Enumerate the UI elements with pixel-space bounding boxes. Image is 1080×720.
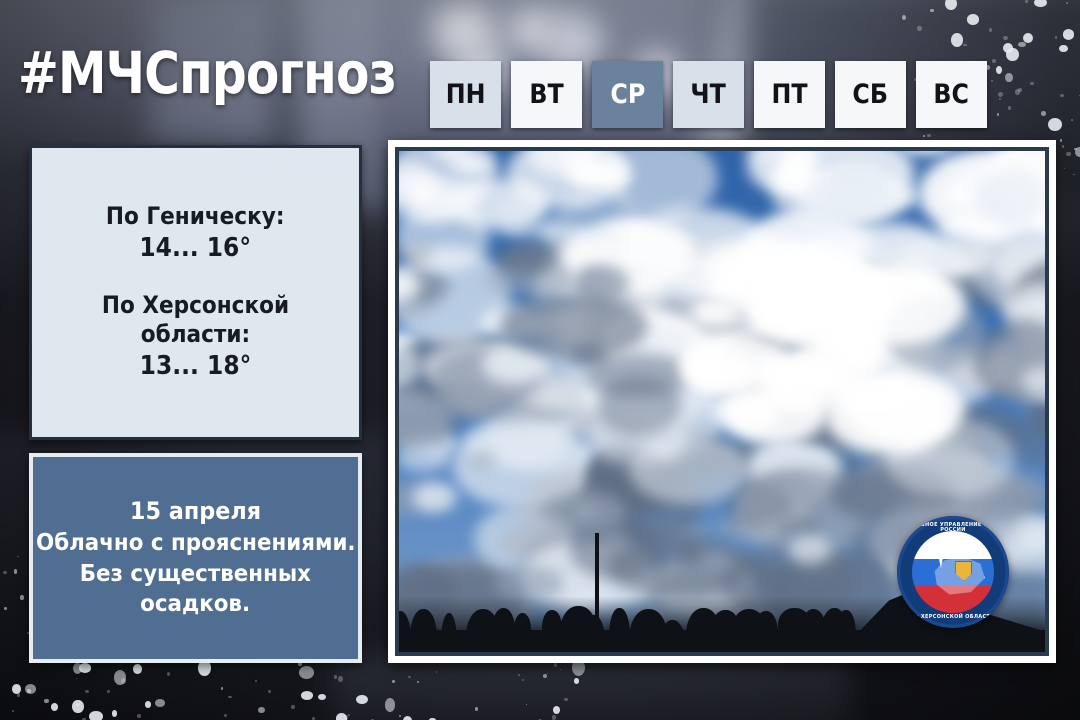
cloud-puff (500, 217, 552, 240)
temperature-value: 14... 16° (106, 233, 285, 265)
weekday-tab-label: ПТ (771, 79, 807, 110)
cloud-puff (977, 168, 1048, 225)
temperature-place: По Геническу: (106, 202, 285, 231)
cloud-puff (412, 482, 457, 512)
forecast-card: #МЧСпрогноз ПНВТСРЧТПТСБВС По Геническу:… (0, 0, 1080, 720)
cloud-puff-sunlit (819, 306, 879, 342)
temperature-place: По Херсонской области: (48, 291, 342, 350)
weekday-tab-label: ЧТ (691, 79, 726, 110)
cloud-puff (397, 444, 450, 472)
emblem-text-bottom: по ХЕРСОНСКОЙ ОБЛАСТИ (897, 615, 1009, 620)
pole-silhouette (595, 533, 599, 643)
weather-photo: ГЛАВНОЕ УПРАВЛЕНИЕ МЧС РОССИИ по ХЕРСОНС… (395, 147, 1049, 656)
weekday-tab-label: ПН (446, 79, 486, 110)
cloud-puff (1044, 269, 1049, 293)
cloud-puff (395, 201, 490, 273)
cloud-puff (774, 160, 808, 186)
cloud-puff (937, 187, 971, 206)
weekday-tab-label: СР (610, 79, 645, 110)
weekday-tab-чт[interactable]: ЧТ (673, 61, 744, 128)
weekday-tab-ср[interactable]: СР (592, 61, 663, 128)
cloud-puff (768, 473, 809, 489)
cloud-puff (600, 531, 631, 548)
weekday-tab-label: СБ (853, 79, 889, 110)
temperature-value: 13... 18° (48, 351, 342, 383)
temperature-entry: По Херсонской области: 13... 18° (32, 291, 359, 383)
cloud-puff (468, 452, 496, 468)
cloud-puff (543, 490, 627, 536)
cloud-puff-sunlit (844, 373, 964, 445)
cloud-puff (608, 534, 752, 598)
weekday-tab-label: ВС (934, 79, 970, 110)
cloud-puff (597, 375, 680, 435)
cloud-puff-sunlit (707, 242, 818, 308)
weekday-tab-пн[interactable]: ПН (430, 61, 501, 128)
cloud-puff (494, 243, 559, 275)
cloud-puff (788, 535, 831, 564)
weekday-tabs: ПНВТСРЧТПТСБВС (430, 61, 987, 128)
cloud-puff (631, 225, 691, 271)
temperature-entry: По Геническу: 14... 16° (96, 202, 294, 265)
forecast-text-line: Облачно с прояснениями. (36, 528, 356, 559)
weekday-tab-label: ВТ (529, 79, 563, 110)
weekday-tab-сб[interactable]: СБ (835, 61, 906, 128)
cloud-puff-sunlit (760, 354, 861, 414)
forecast-text-line: Без существенных (80, 559, 311, 590)
temperature-panel: По Геническу: 14... 16° По Херсонской об… (29, 145, 362, 440)
cloud-puff (1048, 363, 1049, 382)
weekday-tab-вс[interactable]: ВС (916, 61, 987, 128)
forecast-description-panel: 15 апреля Облачно с прояснениями. Без су… (29, 453, 362, 663)
mchs-emblem: ГЛАВНОЕ УПРАВЛЕНИЕ МЧС РОССИИ по ХЕРСОНС… (897, 516, 1009, 628)
cloud-puff (629, 435, 748, 504)
cloud-puff-sunlit (682, 348, 758, 394)
weekday-tab-вт[interactable]: ВТ (511, 61, 582, 128)
ground-silhouette (399, 630, 1045, 652)
forecast-date: 15 апреля (130, 496, 261, 528)
weather-photo-frame: ГЛАВНОЕ УПРАВЛЕНИЕ МЧС РОССИИ по ХЕРСОНС… (388, 140, 1056, 663)
cloud-puff (500, 294, 648, 359)
page-title: #МЧСпрогноз (18, 44, 396, 102)
emblem-text-top: ГЛАВНОЕ УПРАВЛЕНИЕ МЧС РОССИИ (897, 523, 1009, 533)
cloud-puff (801, 173, 896, 226)
forecast-text-line: осадков. (141, 589, 251, 620)
weekday-tab-пт[interactable]: ПТ (754, 61, 825, 128)
